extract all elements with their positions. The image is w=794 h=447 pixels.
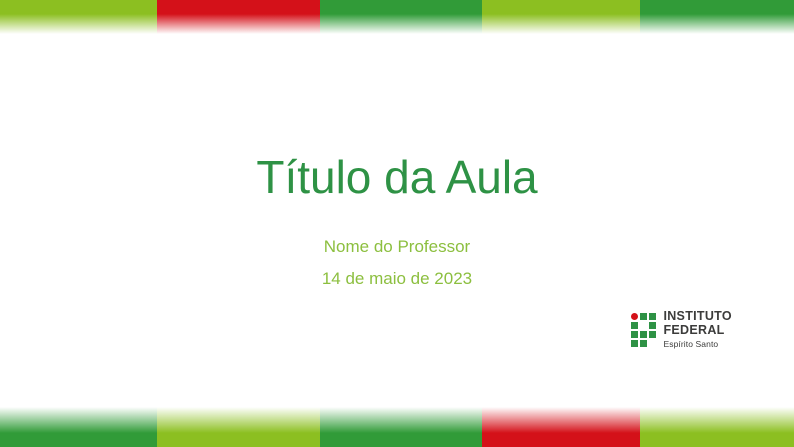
logo-cell — [649, 331, 656, 338]
top-decorative-bar — [0, 0, 794, 34]
top-bar-segment-4 — [482, 0, 640, 34]
presentation-title-slide: Título da Aula Nome do Professor 14 de m… — [0, 0, 794, 447]
institution-logo: INSTITUTO FEDERAL Espírito Santo — [631, 310, 794, 349]
logo-subtitle: Espírito Santo — [663, 339, 794, 349]
logo-cell-empty — [640, 322, 647, 329]
logo-cell — [631, 322, 638, 329]
slide-title: Título da Aula — [0, 152, 794, 203]
ifes-grid-icon — [631, 313, 656, 345]
bottom-bar-segment-5 — [640, 407, 794, 447]
logo-cell — [631, 340, 638, 347]
bottom-bar-segment-2 — [157, 407, 320, 447]
logo-title: INSTITUTO FEDERAL — [663, 310, 794, 338]
logo-cell — [631, 331, 638, 338]
logo-wordmark: INSTITUTO FEDERAL Espírito Santo — [663, 310, 794, 349]
slide-subtitle-block: Nome do Professor 14 de maio de 2023 — [0, 238, 794, 287]
logo-cell — [649, 313, 656, 320]
top-bar-segment-1 — [0, 0, 157, 34]
top-bar-segment-5 — [640, 0, 794, 34]
bottom-bar-segment-3 — [320, 407, 482, 447]
top-bar-segment-2 — [157, 0, 320, 34]
logo-cell — [640, 331, 647, 338]
logo-cell-red-dot — [631, 313, 638, 320]
bottom-decorative-bar — [0, 407, 794, 447]
bottom-bar-segment-4 — [482, 407, 640, 447]
presenter-name: Nome do Professor — [0, 238, 794, 255]
logo-cell — [649, 322, 656, 329]
top-bar-segment-3 — [320, 0, 482, 34]
logo-cell-empty — [649, 340, 656, 347]
presentation-date: 14 de maio de 2023 — [0, 270, 794, 287]
bottom-bar-segment-1 — [0, 407, 157, 447]
logo-cell — [640, 313, 647, 320]
logo-cell — [640, 340, 647, 347]
